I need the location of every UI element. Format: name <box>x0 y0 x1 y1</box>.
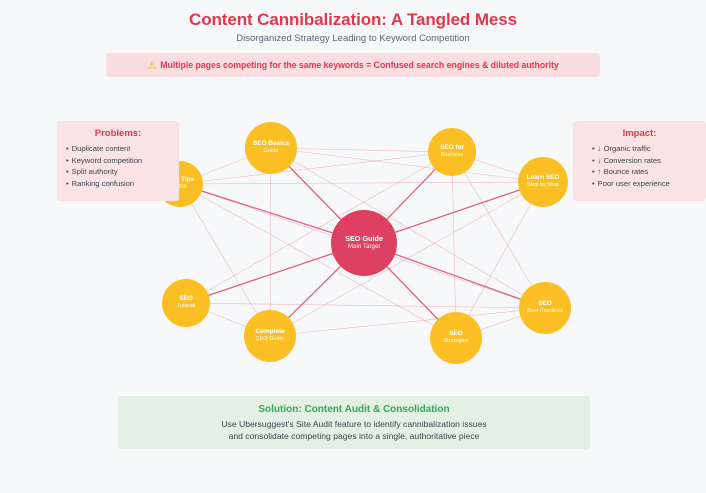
graph-node-sublabel: Strategies <box>443 338 468 346</box>
graph-edge <box>180 184 456 338</box>
graph-node-seo-guide[interactable]: SEO GuideMain Target <box>331 210 397 276</box>
graph-node-complete-seo-guide[interactable]: CompleteSEO Guide <box>244 310 296 362</box>
graph-edge <box>270 182 543 336</box>
problems-list: Duplicate content Keyword competition Sp… <box>66 143 170 189</box>
list-item: ↑ Bounce rates <box>582 166 697 178</box>
graph-node-sublabel: Guide <box>264 148 279 156</box>
graph-node-label: Complete <box>255 328 284 336</box>
graph-edge <box>270 148 271 336</box>
graph-node-label: SEO Guide <box>345 235 383 243</box>
graph-node-sublabel: SEO Guide <box>256 336 284 344</box>
graph-node-label: SEO <box>179 295 193 303</box>
page-subtitle: Disorganized Strategy Leading to Keyword… <box>0 33 706 44</box>
graph-edge <box>186 303 545 308</box>
problems-box: Problems: Duplicate content Keyword comp… <box>57 121 179 201</box>
list-item: Keyword competition <box>66 155 170 167</box>
list-item: Poor user experience <box>582 178 697 190</box>
solution-box: Solution: Content Audit & Consolidation … <box>118 396 590 449</box>
list-item: ↓ Organic traffic <box>582 143 697 155</box>
graph-edge <box>271 148 543 182</box>
list-item: Split authority <box>66 166 170 178</box>
infographic-canvas: Content Cannibalization: A Tangled Mess … <box>0 0 706 493</box>
warning-triangle-icon: ⚠ <box>147 61 156 72</box>
impact-box-title: Impact: <box>582 128 697 139</box>
graph-node-label: SEO <box>538 300 552 308</box>
graph-edge <box>271 148 545 308</box>
solution-box-line1: Use Ubersuggest's Site Audit feature to … <box>221 418 486 430</box>
graph-node-label: SEO Basics <box>253 140 289 148</box>
warning-banner-text: Multiple pages competing for the same ke… <box>160 60 558 70</box>
graph-node-sublabel: Tutorial <box>177 303 195 311</box>
graph-node-label: Learn SEO <box>527 174 560 182</box>
list-item: Ranking confusion <box>66 178 170 190</box>
graph-node-sublabel: Main Target <box>348 243 380 251</box>
graph-edge <box>186 152 452 303</box>
graph-edge <box>271 148 452 152</box>
graph-edge <box>452 152 456 338</box>
graph-node-sublabel: Step by Step <box>527 182 559 190</box>
graph-node-sublabel: Best Practices <box>527 308 563 316</box>
impact-list: ↓ Organic traffic ↓ Conversion rates ↑ B… <box>582 143 697 189</box>
warning-banner: ⚠ Multiple pages competing for the same … <box>106 53 600 77</box>
graph-node-learn-seo[interactable]: Learn SEOStep by Step <box>518 157 568 207</box>
list-item: ↓ Conversion rates <box>582 155 697 167</box>
graph-node-seo-for-business[interactable]: SEO forBusiness <box>428 128 476 176</box>
graph-node-seo-tutorial[interactable]: SEOTutorial <box>162 279 210 327</box>
page-title: Content Cannibalization: A Tangled Mess <box>0 10 706 30</box>
graph-edge <box>270 308 545 336</box>
graph-node-label: SEO for <box>440 144 464 152</box>
problems-box-title: Problems: <box>66 128 170 139</box>
graph-edge <box>180 182 543 184</box>
solution-box-title: Solution: Content Audit & Consolidation <box>258 404 449 415</box>
graph-node-seo-best-practices[interactable]: SEOBest Practices <box>519 282 571 334</box>
graph-node-label: SEO <box>449 330 463 338</box>
list-item: Duplicate content <box>66 143 170 155</box>
impact-box: Impact: ↓ Organic traffic ↓ Conversion r… <box>573 121 706 201</box>
graph-node-seo-strategies[interactable]: SEOStrategies <box>430 312 482 364</box>
graph-node-sublabel: Business <box>441 152 464 160</box>
solution-box-line2: and consolidate competing pages into a s… <box>229 430 480 442</box>
graph-edge <box>180 152 452 184</box>
graph-node-seo-basics[interactable]: SEO BasicsGuide <box>245 122 297 174</box>
